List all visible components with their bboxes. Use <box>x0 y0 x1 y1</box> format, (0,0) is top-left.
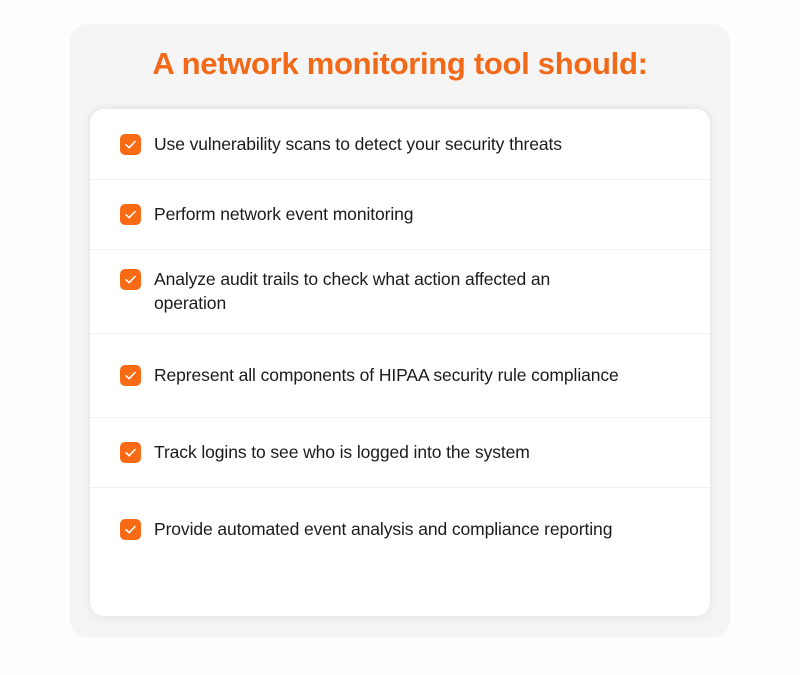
card-header: A network monitoring tool should: <box>70 24 730 104</box>
list-item-label: Provide automated event analysis and com… <box>154 517 612 541</box>
checklist-container: Use vulnerability scans to detect your s… <box>90 109 710 616</box>
checkbox-checked-icon[interactable] <box>120 519 141 540</box>
list-item-label: Track logins to see who is logged into t… <box>154 440 530 464</box>
list-item[interactable]: Analyze audit trails to check what actio… <box>90 249 710 333</box>
checkbox-checked-icon[interactable] <box>120 134 141 155</box>
list-item[interactable]: Track logins to see who is logged into t… <box>90 417 710 487</box>
list-item[interactable]: Represent all components of HIPAA securi… <box>90 333 710 417</box>
list-item-label: Use vulnerability scans to detect your s… <box>154 132 562 156</box>
list-item[interactable]: Provide automated event analysis and com… <box>90 487 710 571</box>
list-item[interactable]: Perform network event monitoring <box>90 179 710 249</box>
checkbox-checked-icon[interactable] <box>120 365 141 386</box>
page-title: A network monitoring tool should: <box>152 47 647 81</box>
list-item-label: Represent all components of HIPAA securi… <box>154 363 619 387</box>
checkbox-checked-icon[interactable] <box>120 442 141 463</box>
list-item-label: Analyze audit trails to check what actio… <box>154 267 624 315</box>
checkbox-checked-icon[interactable] <box>120 269 141 290</box>
checklist-card: A network monitoring tool should: Use vu… <box>70 24 730 638</box>
checkbox-checked-icon[interactable] <box>120 204 141 225</box>
list-item-label: Perform network event monitoring <box>154 202 413 226</box>
list-item[interactable]: Use vulnerability scans to detect your s… <box>90 109 710 179</box>
